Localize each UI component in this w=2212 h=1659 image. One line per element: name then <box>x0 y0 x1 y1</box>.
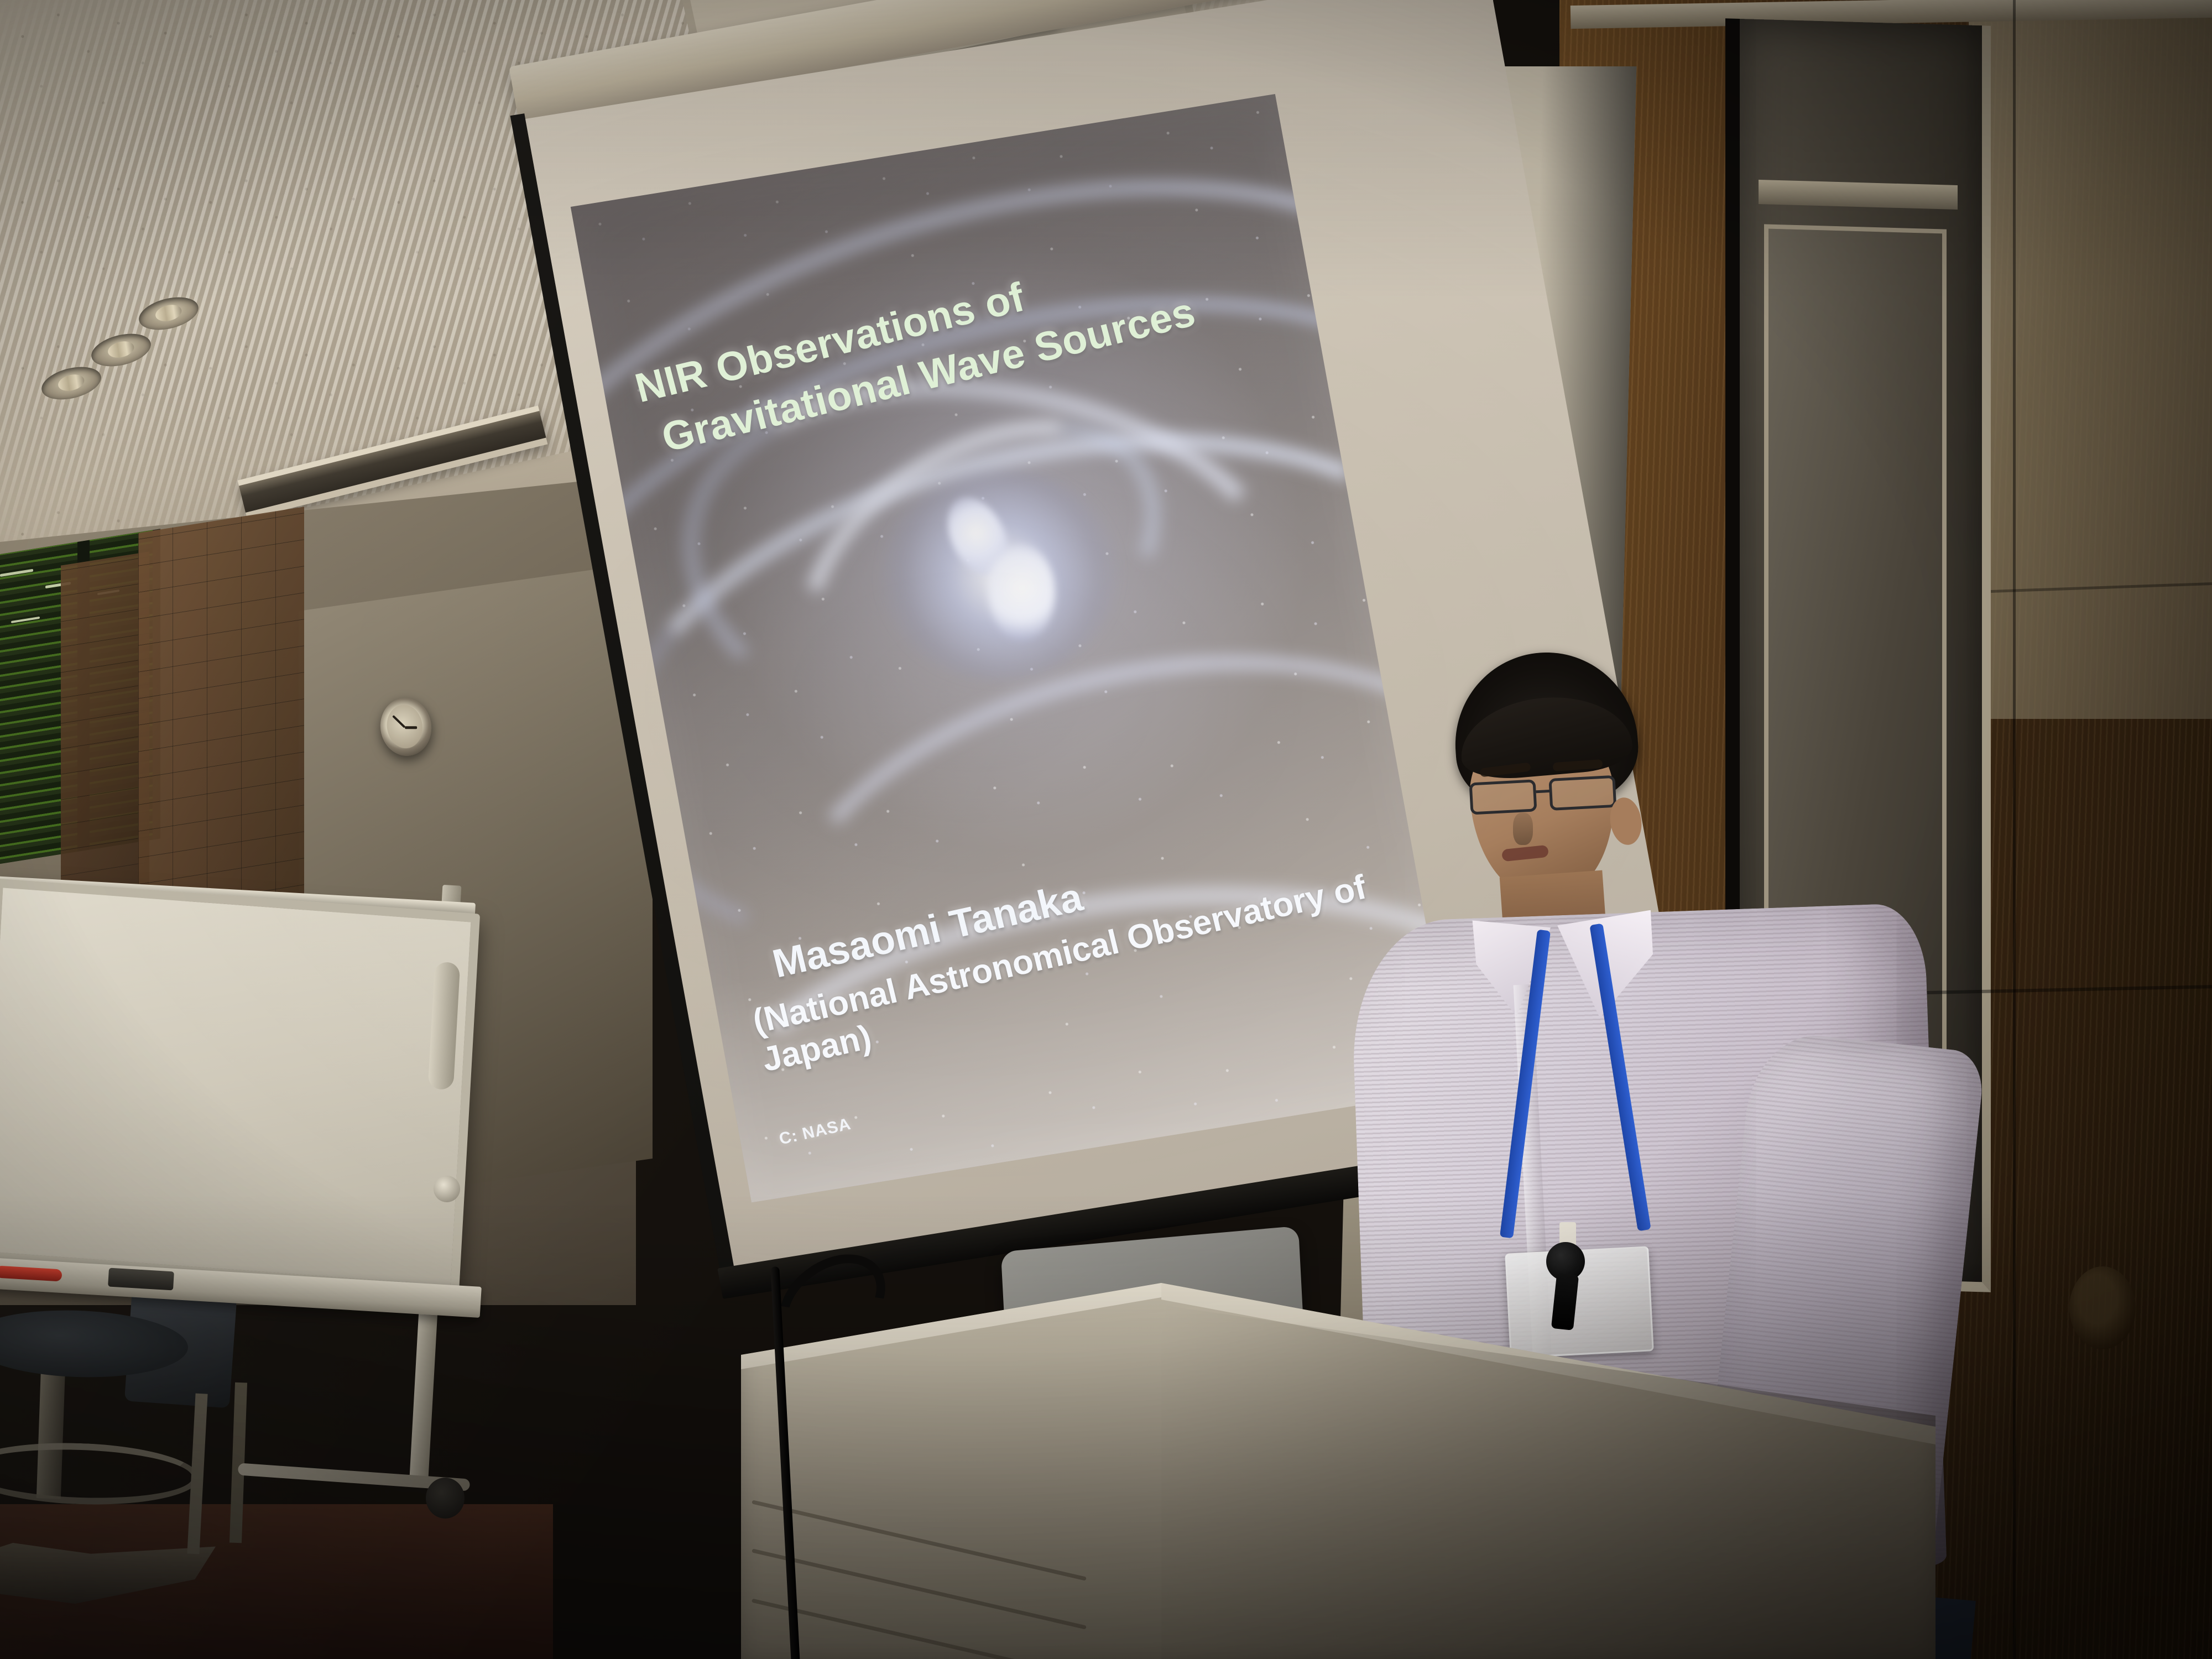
clock-hour-hand <box>405 727 417 729</box>
whiteboard-tilt-knob[interactable] <box>434 1176 460 1202</box>
door-knob-icon[interactable] <box>2069 1266 2136 1349</box>
glasses-lens <box>1469 779 1537 815</box>
glasses-lens <box>1548 775 1616 811</box>
clock-face <box>384 702 426 751</box>
stool-footring <box>0 1439 200 1509</box>
presenter-nose <box>1513 813 1533 845</box>
glasses-bridge <box>1536 790 1550 793</box>
caster-wheel-icon <box>426 1478 465 1519</box>
whiteboard-eraser[interactable] <box>108 1268 174 1291</box>
whiteboard-surface[interactable] <box>0 888 471 1285</box>
lecture-room-photo: NIR Observations of Gravitational Wave S… <box>0 0 2212 1659</box>
clock-minute-hand <box>392 715 405 728</box>
wood-panel-upper <box>1969 0 2212 719</box>
whiteboard[interactable] <box>0 878 480 1295</box>
